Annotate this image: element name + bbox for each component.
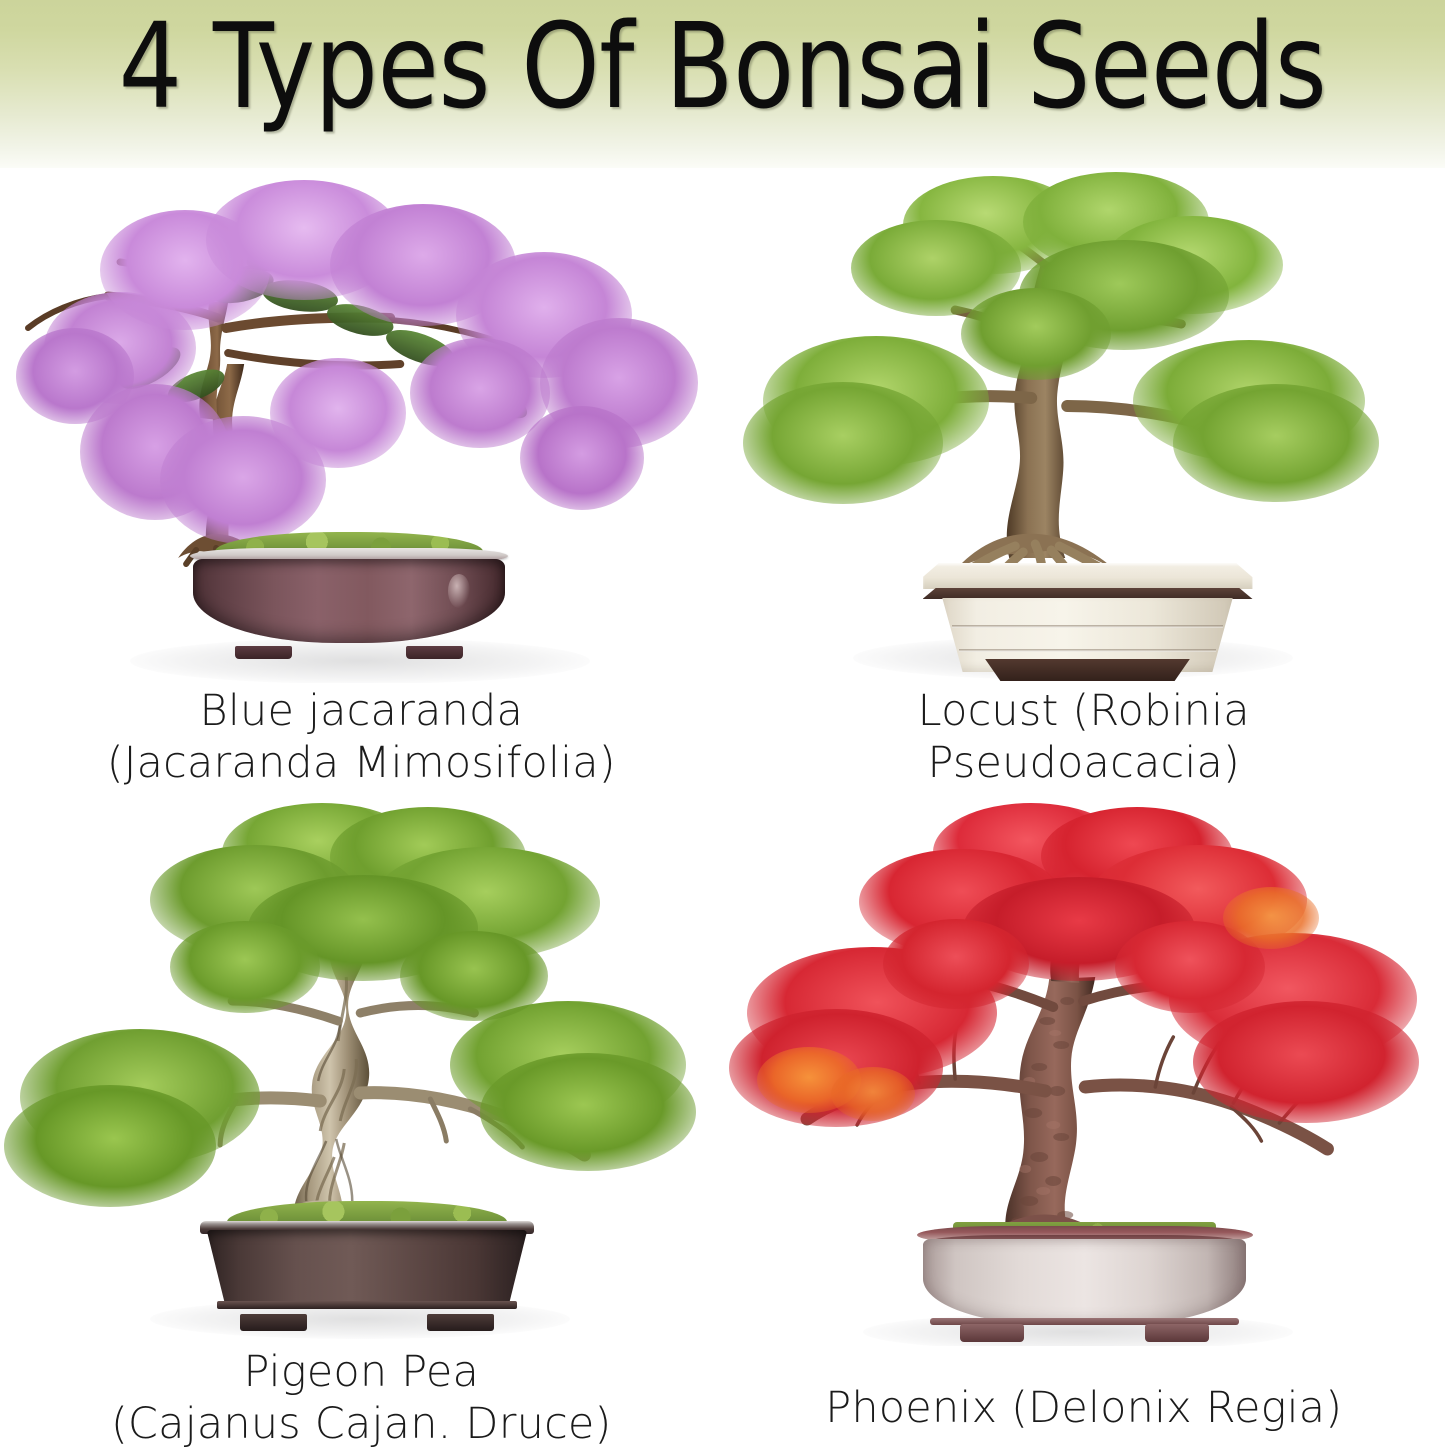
- bonsai-photo-blue-jacaranda: [0, 168, 723, 683]
- bonsai-pot: [917, 1226, 1253, 1342]
- bonsai-photo-phoenix: [723, 801, 1445, 1346]
- caption-line-1: Phoenix (Delonix Regia): [723, 1383, 1445, 1435]
- bonsai-photo-pigeon-pea: [0, 801, 723, 1346]
- bonsai-caption-pigeon-pea: Pigeon Pea (Cajanus Cajan. Druce): [0, 1347, 723, 1450]
- bonsai-pot: [190, 548, 508, 658]
- bonsai-card-pigeon-pea[interactable]: Pigeon Pea (Cajanus Cajan. Druce): [0, 801, 723, 1434]
- caption-line-1: Blue jacaranda: [0, 686, 723, 738]
- bonsai-card-locust[interactable]: Locust (Robinia Pseudoacacia): [723, 168, 1445, 801]
- page-header: 4 Types Of Bonsai Seeds: [0, 0, 1445, 168]
- caption-line-2: (Cajanus Cajan. Druce): [0, 1399, 723, 1450]
- bonsai-caption-locust: Locust (Robinia Pseudoacacia): [723, 686, 1445, 789]
- bonsai-photo-locust: [723, 168, 1445, 683]
- caption-line-1: Pigeon Pea: [0, 1347, 723, 1399]
- bonsai-pot: [200, 1221, 534, 1331]
- caption-line-1: Locust (Robinia: [723, 686, 1445, 738]
- bonsai-card-phoenix[interactable]: Phoenix (Delonix Regia): [723, 801, 1445, 1434]
- bonsai-pot: [923, 563, 1253, 681]
- bonsai-grid: Blue jacaranda (Jacaranda Mimosifolia): [0, 168, 1445, 1434]
- caption-line-2: Pseudoacacia): [723, 738, 1445, 790]
- page-title: 4 Types Of Bonsai Seeds: [43, 4, 1401, 129]
- bonsai-card-blue-jacaranda[interactable]: Blue jacaranda (Jacaranda Mimosifolia): [0, 168, 723, 801]
- caption-line-2: (Jacaranda Mimosifolia): [0, 738, 723, 790]
- bonsai-caption-phoenix: Phoenix (Delonix Regia): [723, 1383, 1445, 1435]
- bonsai-caption-blue-jacaranda: Blue jacaranda (Jacaranda Mimosifolia): [0, 686, 723, 789]
